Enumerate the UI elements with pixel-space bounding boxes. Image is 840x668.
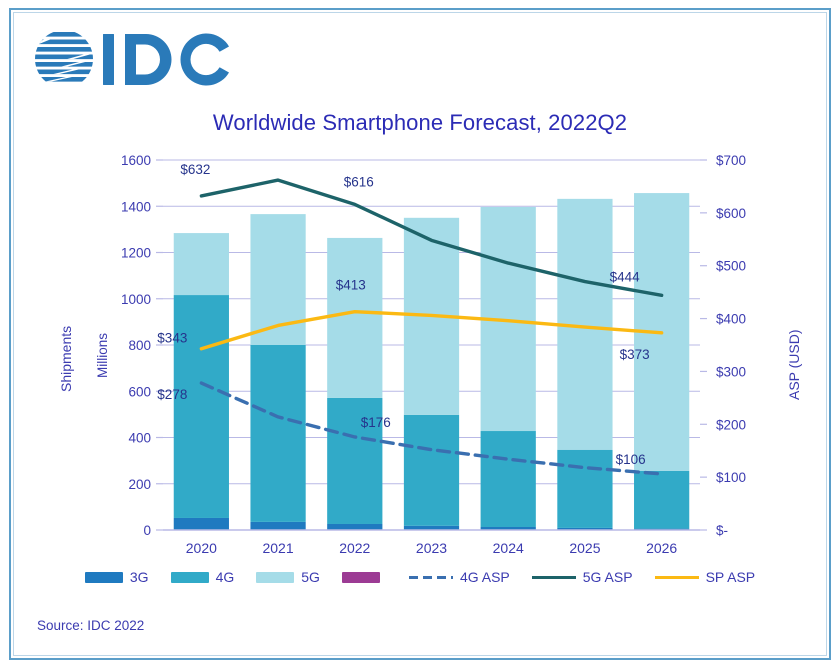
bar-segment [174, 295, 229, 518]
legend-item-3g[interactable]: 3G [85, 570, 149, 584]
x-axis-label: 2024 [493, 540, 524, 556]
legend-item-5g[interactable]: 5G [256, 570, 320, 584]
x-axis-labels: 2020202120222023202420252026 [186, 540, 678, 556]
source-note: Source: IDC 2022 [37, 618, 144, 633]
svg-text:1600: 1600 [121, 153, 151, 168]
bar-segment [634, 471, 689, 529]
legend-label-5g_asp: 5G ASP [583, 570, 633, 584]
svg-text:1000: 1000 [121, 292, 151, 307]
svg-text:$-: $- [716, 523, 728, 538]
x-axis-label: 2026 [646, 540, 677, 556]
legend-item-sp_asp[interactable]: SP ASP [655, 570, 756, 584]
data-label: $444 [610, 269, 641, 284]
svg-text:400: 400 [128, 431, 151, 446]
y-axis-outer-title: Shipments [58, 326, 74, 392]
svg-text:$700: $700 [716, 153, 746, 168]
data-label: $373 [620, 347, 650, 362]
bar-segment [174, 518, 229, 530]
legend-swatch-4g [171, 572, 209, 583]
y-axis-inner-title: Millions [95, 333, 110, 378]
svg-text:600: 600 [128, 384, 151, 399]
y-axis-right-labels: $-$100$200$300$400$500$600$700 [716, 153, 746, 538]
legend-label-3g: 3G [130, 570, 149, 584]
x-axis-label: 2022 [339, 540, 370, 556]
svg-text:$200: $200 [716, 417, 746, 432]
y-axis-right-title: ASP (USD) [786, 329, 802, 400]
legend-line-4g_asp [409, 572, 453, 583]
x-axis-label: 2025 [569, 540, 600, 556]
legend-label-4g: 4G [216, 570, 235, 584]
bar-segment [404, 415, 459, 526]
legend-line-sp_asp [655, 572, 699, 583]
svg-text:$400: $400 [716, 312, 746, 327]
svg-text:1200: 1200 [121, 246, 151, 261]
legend-item-4g[interactable]: 4G [171, 570, 235, 584]
y-axis-left-labels: 02004006008001000120014001600 [121, 153, 151, 538]
legend-swatch-3g [85, 572, 123, 583]
bar-segment [250, 345, 305, 522]
x-axis-label: 2023 [416, 540, 447, 556]
legend-item-other[interactable] [342, 572, 387, 583]
data-label: $616 [344, 174, 374, 189]
bar-series-group [174, 193, 690, 530]
legend-item-4g_asp[interactable]: 4G ASP [409, 570, 510, 584]
legend-item-5g_asp[interactable]: 5G ASP [532, 570, 633, 584]
chart-plot-area: 02004006008001000120014001600 $-$100$200… [0, 0, 840, 668]
svg-text:$300: $300 [716, 364, 746, 379]
y-axis-right-ticks [700, 160, 707, 530]
svg-text:800: 800 [128, 338, 151, 353]
svg-text:1400: 1400 [121, 199, 151, 214]
chart-legend: 3G4G5G4G ASP5G ASPSP ASP [0, 570, 840, 584]
legend-label-4g_asp: 4G ASP [460, 570, 510, 584]
data-label: $278 [157, 387, 187, 402]
bar-segment [481, 431, 536, 527]
data-label: $176 [361, 415, 391, 430]
svg-text:$500: $500 [716, 259, 746, 274]
svg-text:200: 200 [128, 477, 151, 492]
data-label: $413 [336, 278, 366, 293]
bar-segment [250, 522, 305, 530]
svg-text:0: 0 [143, 523, 151, 538]
chart-page: Worldwide Smartphone Forecast, 2022Q2 02… [0, 0, 840, 668]
bar-segment [327, 524, 382, 530]
legend-swatch-other [342, 572, 380, 583]
x-axis-label: 2021 [262, 540, 293, 556]
bar-segment [327, 238, 382, 398]
legend-line-5g_asp [532, 572, 576, 583]
x-axis-label: 2020 [186, 540, 217, 556]
legend-label-5g: 5G [301, 570, 320, 584]
data-label: $343 [157, 331, 187, 346]
data-label: $106 [616, 452, 646, 467]
data-label: $632 [180, 162, 210, 177]
bar-segment [174, 233, 229, 295]
svg-text:$100: $100 [716, 470, 746, 485]
bar-segment [557, 450, 612, 528]
legend-label-sp_asp: SP ASP [706, 570, 756, 584]
svg-text:$600: $600 [716, 206, 746, 221]
legend-swatch-5g [256, 572, 294, 583]
